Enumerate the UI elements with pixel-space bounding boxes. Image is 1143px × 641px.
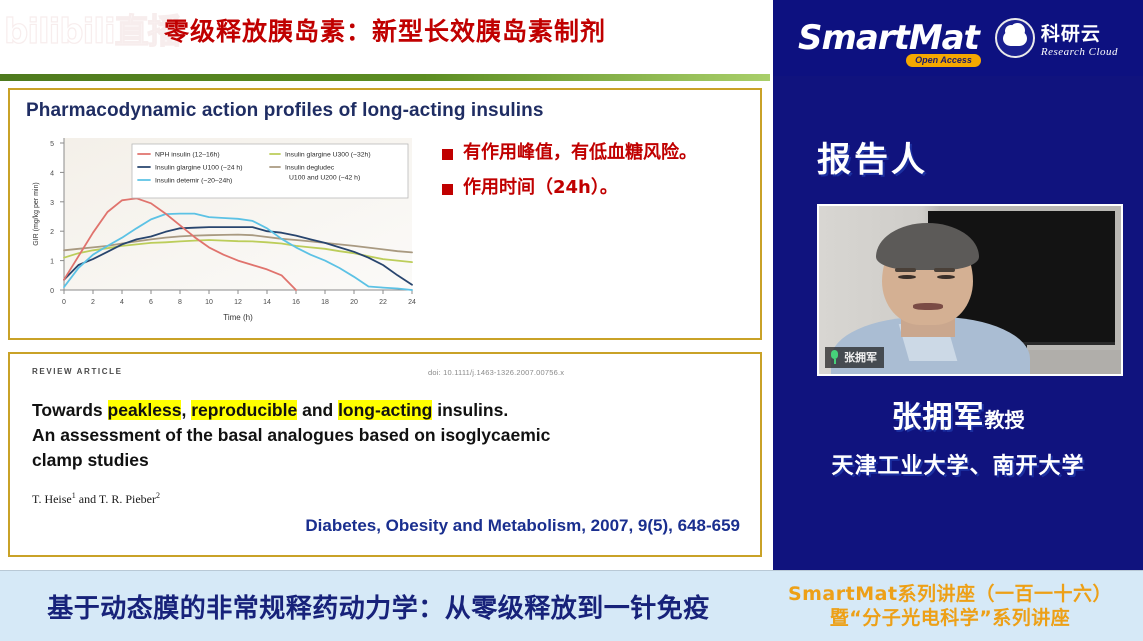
pharmacodynamic-chart: 0 1 2 3 4 5 0 2 4 6 8 10 xyxy=(24,132,424,328)
paper-authors: T. Heise1 and T. R. Pieber2 xyxy=(32,491,160,507)
svg-text:10: 10 xyxy=(205,299,213,306)
screen: bilibili直播 零级释放胰岛素：新型长效胰岛素制剂 Pharmacodyn… xyxy=(0,0,1143,641)
paper-title-line2: An assessment of the basal analogues bas… xyxy=(32,423,732,448)
author-conj: and T. R. Pieber xyxy=(76,492,156,506)
svg-text:Insulin glargine U300 (~32h): Insulin glargine U300 (~32h) xyxy=(285,152,371,159)
cloud-logo-text: 科研云 Research Cloud xyxy=(1041,19,1118,58)
svg-text:0: 0 xyxy=(50,288,54,295)
paper-title-part1: Towards xyxy=(32,400,108,420)
svg-text:14: 14 xyxy=(263,299,271,306)
paper-title-part2: , xyxy=(181,400,191,420)
cloud-name-cn: 科研云 xyxy=(1041,19,1118,46)
svg-text:U100 and U200 (~42 h): U100 and U200 (~42 h) xyxy=(289,175,360,182)
research-cloud-logo: 科研云 Research Cloud xyxy=(995,18,1118,58)
microphone-icon xyxy=(830,350,839,364)
svg-text:5: 5 xyxy=(50,141,54,148)
speaker-affiliation: 天津工业大学、南开大学 xyxy=(773,448,1143,480)
video-person-mouth xyxy=(913,303,943,310)
speaker-title: 教授 xyxy=(985,408,1025,432)
broadcast-panel: SmartMat Open Access 科研云 Research Cloud … xyxy=(770,0,1143,570)
bullet-square-icon xyxy=(442,184,453,195)
open-access-badge: Open Access xyxy=(906,54,981,67)
smartmat-wordmark: SmartMat xyxy=(798,18,979,58)
chart-xlabel: Time (h) xyxy=(223,313,253,322)
chart-svg: 0 1 2 3 4 5 0 2 4 6 8 10 xyxy=(24,132,424,328)
paper-title-highlight-reproducible: reproducible xyxy=(191,400,297,420)
speaker-video-tile[interactable]: 张拥军 xyxy=(817,204,1123,376)
paper-title-part4: insulins. xyxy=(432,400,508,420)
paper-title-highlight-peakless: peakless xyxy=(108,400,182,420)
svg-text:18: 18 xyxy=(321,299,329,306)
smartmat-logo: SmartMat Open Access xyxy=(798,18,979,58)
brand-bar: SmartMat Open Access 科研云 Research Cloud xyxy=(773,0,1143,76)
bottom-banner: 基于动态膜的非常规释药动力学：从零级释放到一针免疫 SmartMat系列讲座（一… xyxy=(0,570,1143,641)
speaker-name: 张拥军 xyxy=(892,400,985,435)
cloud-icon xyxy=(995,18,1035,58)
doi-label: doi: 10.1111/j.1463-1326.2007.00756.x xyxy=(428,368,564,377)
paper-panel: REVIEW ARTICLE doi: 10.1111/j.1463-1326.… xyxy=(8,352,762,557)
svg-text:3: 3 xyxy=(50,200,54,207)
svg-text:Insulin detemir (~20–24h): Insulin detemir (~20–24h) xyxy=(155,178,232,185)
svg-text:8: 8 xyxy=(178,299,182,306)
title-divider-rule xyxy=(0,74,770,81)
article-type-label: REVIEW ARTICLE xyxy=(32,367,123,376)
paper-title: Towards peakless, reproducible and long-… xyxy=(32,398,732,473)
bullet-item: 有作用峰值，有低血糖风险。 xyxy=(442,142,754,165)
slide-title: 零级释放胰岛素：新型长效胰岛素制剂 xyxy=(0,12,770,48)
author-1: T. Heise xyxy=(32,492,72,506)
svg-text:Insulin glargine U100 (~24 h): Insulin glargine U100 (~24 h) xyxy=(155,165,242,172)
svg-text:6: 6 xyxy=(149,299,153,306)
author-2-sup: 2 xyxy=(156,491,160,500)
svg-text:2: 2 xyxy=(91,299,95,306)
bullet-item: 作用时间（24h）。 xyxy=(442,177,754,200)
bullet-label: 作用时间（24h）。 xyxy=(463,177,618,200)
svg-text:12: 12 xyxy=(234,299,242,306)
svg-text:Insulin degludec: Insulin degludec xyxy=(285,165,335,172)
paper-title-part3: and xyxy=(297,400,338,420)
series-title-line1: SmartMat系列讲座（一百一十六） xyxy=(788,583,1112,607)
speaker-name-block: 张拥军教授 xyxy=(773,392,1143,436)
series-title-line2: 暨“分子光电科学”系列讲座 xyxy=(830,607,1070,631)
bullet-list: 有作用峰值，有低血糖风险。 作用时间（24h）。 xyxy=(442,142,754,211)
svg-text:16: 16 xyxy=(292,299,300,306)
paper-citation: Diabetes, Obesity and Metabolism, 2007, … xyxy=(130,516,740,536)
svg-text:4: 4 xyxy=(120,299,124,306)
svg-text:1: 1 xyxy=(50,259,54,266)
video-person-brow-right xyxy=(934,268,955,272)
bullet-square-icon xyxy=(442,149,453,160)
lecture-title-area: 基于动态膜的非常规释药动力学：从零级释放到一针免疫 xyxy=(0,571,757,641)
svg-text:NPH insulin (12–16h): NPH insulin (12–16h) xyxy=(155,152,220,159)
slide-area: bilibili直播 零级释放胰岛素：新型长效胰岛素制剂 Pharmacodyn… xyxy=(0,0,770,570)
svg-text:20: 20 xyxy=(350,299,358,306)
cloud-shape xyxy=(1003,31,1027,46)
cloud-name-en: Research Cloud xyxy=(1041,46,1118,58)
participant-name: 张拥军 xyxy=(844,349,877,365)
series-title-area: SmartMat系列讲座（一百一十六） 暨“分子光电科学”系列讲座 xyxy=(757,571,1143,641)
video-person-brow-left xyxy=(895,268,916,272)
chart-heading: Pharmacodynamic action profiles of long-… xyxy=(26,100,544,122)
svg-text:22: 22 xyxy=(379,299,387,306)
chart-legend: NPH insulin (12–16h) Insulin glargine U1… xyxy=(132,144,408,198)
chart-ylabel: GIR (mg/kg per min) xyxy=(33,182,40,245)
paper-title-highlight-longacting: long-acting xyxy=(338,400,432,420)
lecture-title: 基于动态膜的非常规释药动力学：从零级释放到一针免疫 xyxy=(47,588,710,625)
svg-text:24: 24 xyxy=(408,299,416,306)
speaker-heading: 报告人 xyxy=(817,132,928,181)
paper-title-line3: clamp studies xyxy=(32,448,732,473)
svg-text:0: 0 xyxy=(62,299,66,306)
svg-text:4: 4 xyxy=(50,170,54,177)
chart-panel: Pharmacodynamic action profiles of long-… xyxy=(8,88,762,340)
participant-name-tag: 张拥军 xyxy=(825,347,884,368)
bullet-label: 有作用峰值，有低血糖风险。 xyxy=(463,142,697,165)
svg-text:2: 2 xyxy=(50,229,54,236)
